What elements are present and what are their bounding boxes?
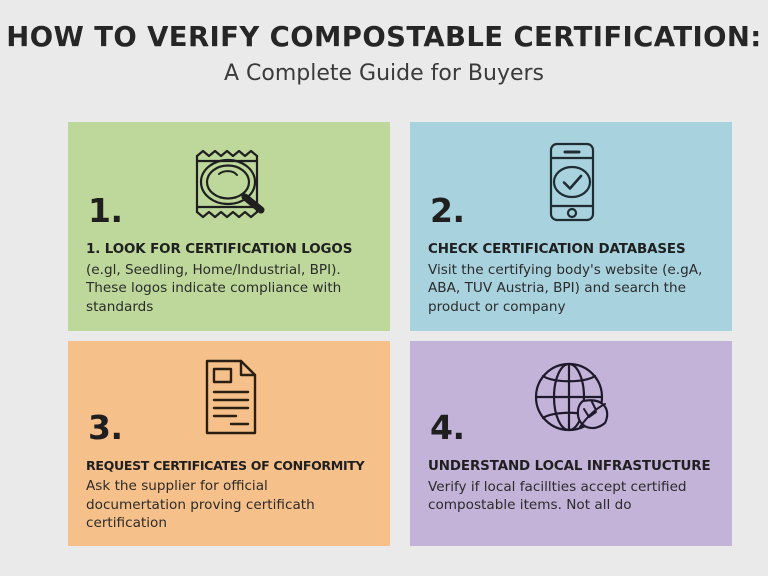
step-text-4: UNDERSTAND LOCAL INFRASTUCTURE Verify if… <box>428 459 718 515</box>
step-body-line: These logos indicate compliance with <box>86 279 376 297</box>
step-heading-3: REQUEST CERTIFICATES OF CONFORMITY <box>86 459 376 473</box>
page-subtitle: A Complete Guide for Buyers <box>0 61 768 87</box>
step-heading-1: 1. LOOK FOR CERTIFICATION LOGOS <box>86 242 376 257</box>
step-card-4[interactable]: 4. UNDERSTAND LOCAL INFRASTUCTURE Verify… <box>410 341 732 546</box>
step-body-3: Ask the supplier for official documertat… <box>86 477 376 531</box>
step-heading-4: UNDERSTAND LOCAL INFRASTUCTURE <box>428 459 718 474</box>
step-body-line: Visit the certifying body's website (e.g… <box>428 261 718 279</box>
step-text-3: REQUEST CERTIFICATES OF CONFORMITY Ask t… <box>86 459 376 532</box>
steps-grid: 1. 1. LOOK FOR CERTIFICATION LOGOS (e.gl… <box>68 122 732 546</box>
step-body-line: standards <box>86 298 376 316</box>
step-card-3[interactable]: 3. REQUEST CERTIFICATES OF CONFORMITY As… <box>68 341 390 546</box>
step-heading-2: CHECK CERTIFICATION DATABASES <box>428 242 718 257</box>
step-body-line: certification <box>86 514 376 532</box>
step-number-2: 2. <box>430 194 465 227</box>
page-header: HOW TO VERIFY COMPOSTABLE CERTIFICATION:… <box>0 22 768 88</box>
step-body-2: Visit the certifying body's website (e.g… <box>428 261 718 315</box>
step-body-4: Verify if local facillties accept certif… <box>428 478 718 514</box>
step-body-line: product or company <box>428 298 718 316</box>
step-body-line: Ask the supplier for official <box>86 477 376 495</box>
page-title: HOW TO VERIFY COMPOSTABLE CERTIFICATION: <box>0 22 768 52</box>
step-card-1[interactable]: 1. 1. LOOK FOR CERTIFICATION LOGOS (e.gl… <box>68 122 390 331</box>
step-body-line: documertation proving certificath <box>86 496 376 514</box>
step-number-3: 3. <box>88 411 123 444</box>
step-number-4: 4. <box>430 411 465 444</box>
step-body-line: (e.gl, Seedling, Home/Industrial, BPI). <box>86 261 376 279</box>
step-number-1: 1. <box>88 194 123 227</box>
step-body-line: compostable items. Not all do <box>428 496 718 514</box>
step-body-1: (e.gl, Seedling, Home/Industrial, BPI). … <box>86 261 376 315</box>
step-text-2: CHECK CERTIFICATION DATABASES Visit the … <box>428 242 718 316</box>
step-body-line: ABA, TUV Austria, BPI) and search the <box>428 279 718 297</box>
step-card-2[interactable]: 2. CHECK CERTIFICATION DATABASES Visit t… <box>410 122 732 331</box>
step-body-line: Verify if local facillties accept certif… <box>428 478 718 496</box>
step-text-1: 1. LOOK FOR CERTIFICATION LOGOS (e.gl, S… <box>86 242 376 316</box>
